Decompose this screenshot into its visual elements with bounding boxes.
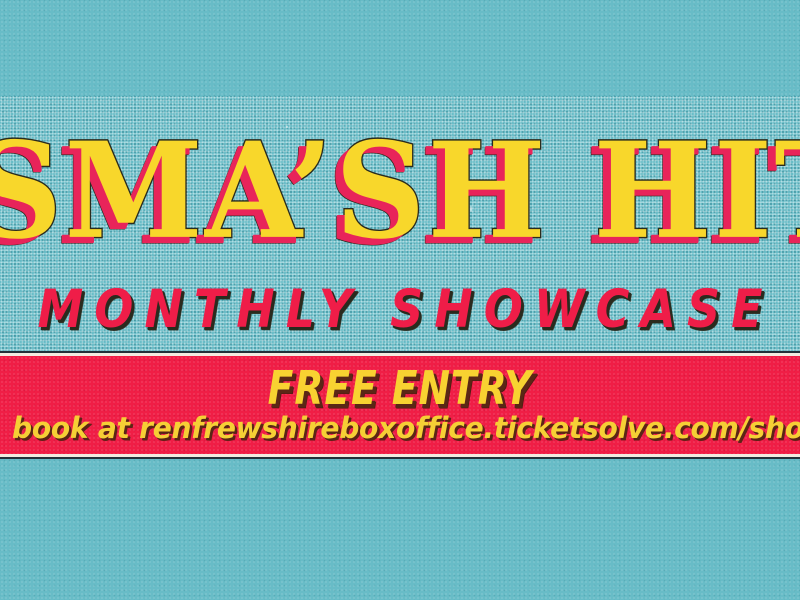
banner-bottom-dark-rule [0,457,800,459]
poster-subtitle: MONTHLY SHOWCASE [26,283,773,335]
info-banner: FREE ENTRY book at renfrewshireboxoffice… [0,353,800,457]
poster-title: SMA’SH HITS [0,125,800,257]
booking-url-line: book at renfrewshireboxoffice.ticketsolv… [12,414,788,443]
poster-title-row: SMA’SH HITS [0,132,800,250]
poster-subtitle-row: MONTHLY SHOWCASE [0,286,800,332]
free-entry-headline: FREE ENTRY [32,366,768,412]
poster-canvas: SMA’SH HITS MONTHLY SHOWCASE FREE ENTRY … [0,0,800,600]
